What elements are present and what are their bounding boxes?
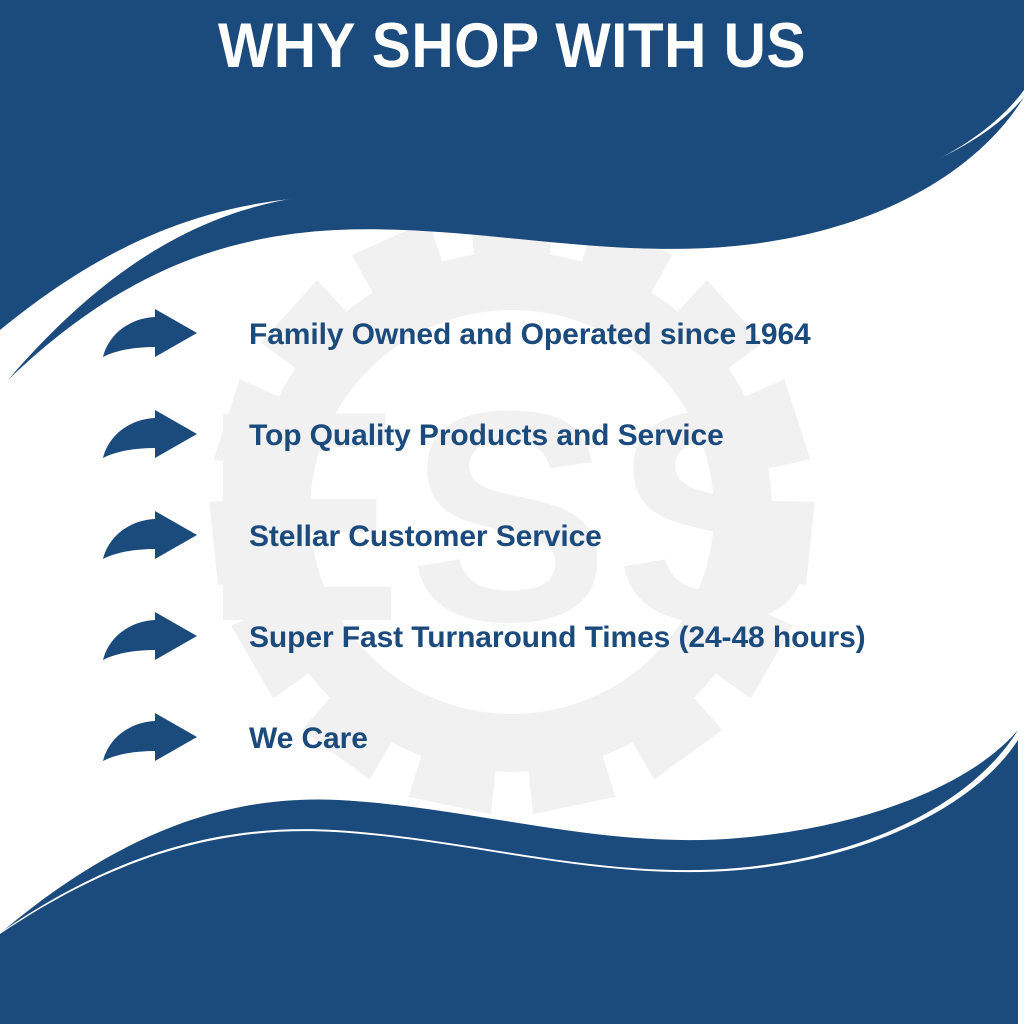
bottom-wave-decoration bbox=[0, 0, 1024, 1024]
wave-band-bottom bbox=[0, 740, 1018, 1024]
page-title: WHY SHOP WITH US bbox=[36, 13, 988, 79]
promo-graphic: ESS WHY SHOP WITH US Family Owned and Op… bbox=[0, 0, 1024, 1024]
